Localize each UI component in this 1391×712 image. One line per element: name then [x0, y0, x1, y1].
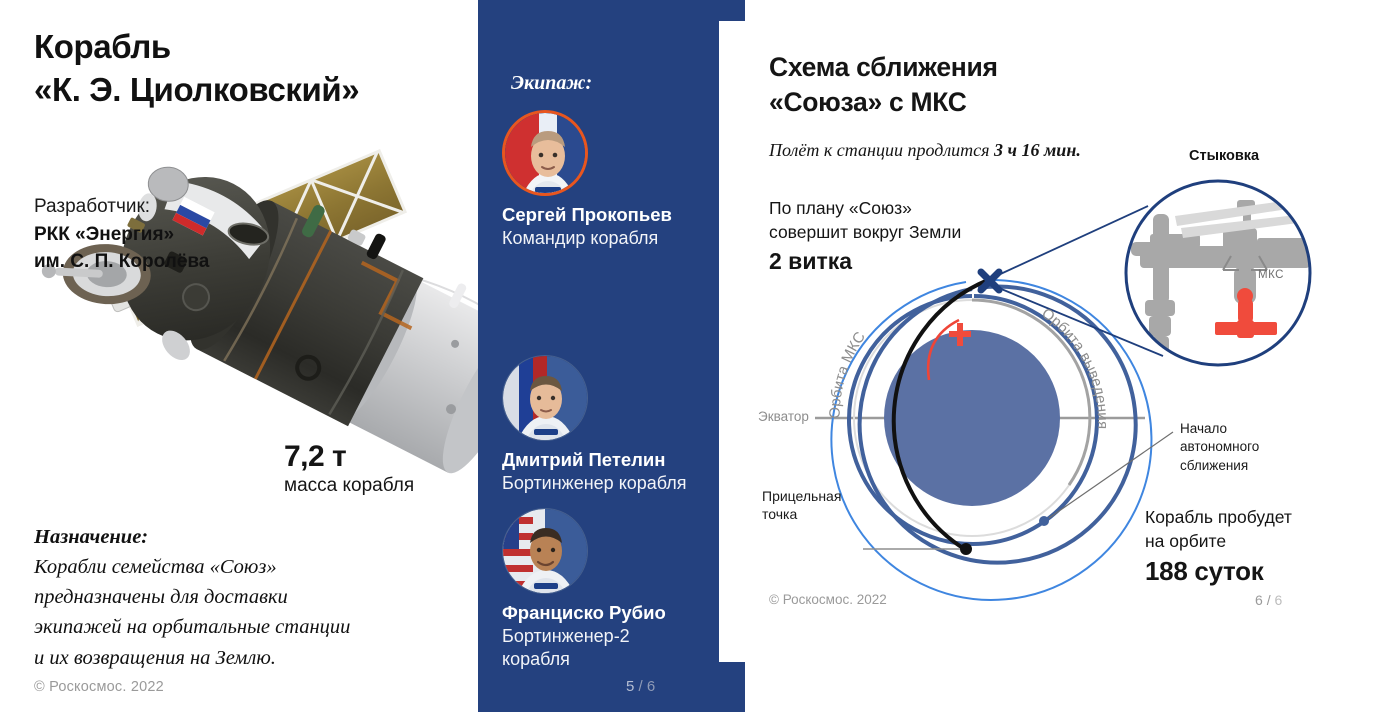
orbit-stay-line-1: Корабль пробудет: [1145, 505, 1292, 529]
page-number-left: 5 / 6: [626, 678, 655, 695]
page-title-line-1: Корабль: [34, 26, 359, 69]
purpose-block: Назначение: Корабли семейства «Союз» пре…: [34, 522, 454, 673]
right-title-line-1: Схема сближения: [769, 50, 998, 85]
mass-caption: масса корабля: [284, 475, 454, 497]
crew-member-role-2: корабля: [502, 649, 732, 671]
autonomous-rendezvous-label: Начало автономного сближения: [1180, 420, 1259, 475]
page-title: Корабль «К. Э. Циолковский»: [34, 26, 359, 112]
crew-member-1: Сергей Прокопьев Командир корабля: [502, 110, 732, 249]
iss-inset-label: МКС: [1258, 269, 1284, 281]
autonomous-line-1: Начало: [1180, 420, 1259, 438]
flight-duration-value: 3 ч 16 мин.: [994, 140, 1081, 160]
crew-member-role: Бортинженер-2: [502, 626, 732, 648]
infographic-page: Корабль «К. Э. Циолковский» Разработчик:…: [0, 0, 1391, 712]
autonomous-line-3: сближения: [1180, 457, 1259, 475]
crew-panel-bg-top: [478, 0, 745, 21]
orbit-stay-emphasis: 188 суток: [1145, 554, 1292, 590]
page-number-right: 6 / 6: [1255, 592, 1282, 608]
orbit-plan-line-1: По плану «Союз»: [769, 196, 961, 220]
target-point-line-2: точка: [762, 505, 841, 523]
page-title-line-2: «К. Э. Циолковский»: [34, 69, 359, 112]
orbit-stay-line-2: на орбите: [1145, 529, 1292, 553]
target-point-line-1: Прицельная: [762, 487, 841, 505]
mass-block: 7,2 т масса корабля: [284, 440, 454, 497]
page-number-separator: /: [639, 678, 643, 695]
page-number-current: 6: [1255, 592, 1263, 608]
developer-block: Разработчик: РКК «Энергия» им. С. П. Кор…: [34, 193, 209, 276]
purpose-line-4: и их возвращения на Землю.: [34, 643, 454, 673]
crew-member-name: Сергей Прокопьев: [502, 204, 732, 226]
equator-label: Экватор: [758, 409, 809, 424]
crew-member-name: Франциско Рубио: [502, 602, 732, 624]
orbit-plan-line-2: совершит вокруг Земли: [769, 220, 961, 244]
copyright-left: © Роскосмос. 2022: [34, 679, 164, 695]
copyright-right: © Роскосмос. 2022: [769, 592, 887, 607]
page-number-total: 6: [647, 678, 655, 695]
page-number-separator: /: [1267, 592, 1271, 608]
astronaut-portrait-rubio: [503, 509, 587, 593]
developer-name-line-2: им. С. П. Королёва: [34, 248, 209, 276]
orbit-stay-block: Корабль пробудет на орбите 188 суток: [1145, 505, 1292, 590]
page-number-total: 6: [1274, 592, 1282, 608]
crew-member-name: Дмитрий Петелин: [502, 449, 732, 471]
flight-duration-prefix: Полёт к станции продлится: [769, 140, 994, 160]
crew-member-2: Дмитрий Петелин Бортинженер корабля: [502, 355, 732, 494]
avatar: [502, 110, 588, 196]
target-point-dot: [960, 543, 972, 555]
mass-value: 7,2 т: [284, 440, 454, 474]
crew-member-role: Командир корабля: [502, 228, 732, 250]
avatar: [502, 355, 588, 441]
cosmonaut-portrait-petelin: [503, 356, 587, 440]
purpose-heading: Назначение:: [34, 522, 454, 552]
right-page-title: Схема сближения «Союза» с МКС: [769, 50, 998, 120]
autonomous-start-dot: [1039, 516, 1049, 526]
page-number-current: 5: [626, 678, 634, 695]
flight-duration-note: Полёт к станции продлится 3 ч 16 мин.: [769, 140, 1081, 161]
earth-sphere: [884, 330, 1060, 506]
purpose-line-3: экипажей на орбитальные станции: [34, 612, 454, 642]
developer-name-line-1: РКК «Энергия»: [34, 221, 209, 249]
autonomous-line-2: автономного: [1180, 438, 1259, 456]
crew-panel: Экипаж:: [478, 0, 745, 712]
right-title-line-2: «Союза» с МКС: [769, 85, 998, 120]
avatar: [502, 508, 588, 594]
purpose-line-2: предназначены для доставки: [34, 582, 454, 612]
orbit-plan-note: По плану «Союз» совершит вокруг Земли 2 …: [769, 196, 961, 278]
cosmonaut-portrait-prokopyev: [505, 113, 585, 193]
crew-member-3: Франциско Рубио Бортинженер-2 корабля: [502, 508, 732, 671]
target-point-label: Прицельная точка: [762, 487, 841, 524]
docking-label: Стыковка: [1189, 148, 1259, 164]
crew-member-role: Бортинженер корабля: [502, 473, 732, 495]
purpose-line-1: Корабли семейства «Союз»: [34, 552, 454, 582]
developer-label: Разработчик:: [34, 193, 209, 221]
right-slide: Орбита МКС Орбита выведения Схема сближе…: [745, 0, 1391, 712]
orbit-plan-emphasis: 2 витка: [769, 246, 961, 278]
crew-heading: Экипаж:: [511, 72, 592, 95]
